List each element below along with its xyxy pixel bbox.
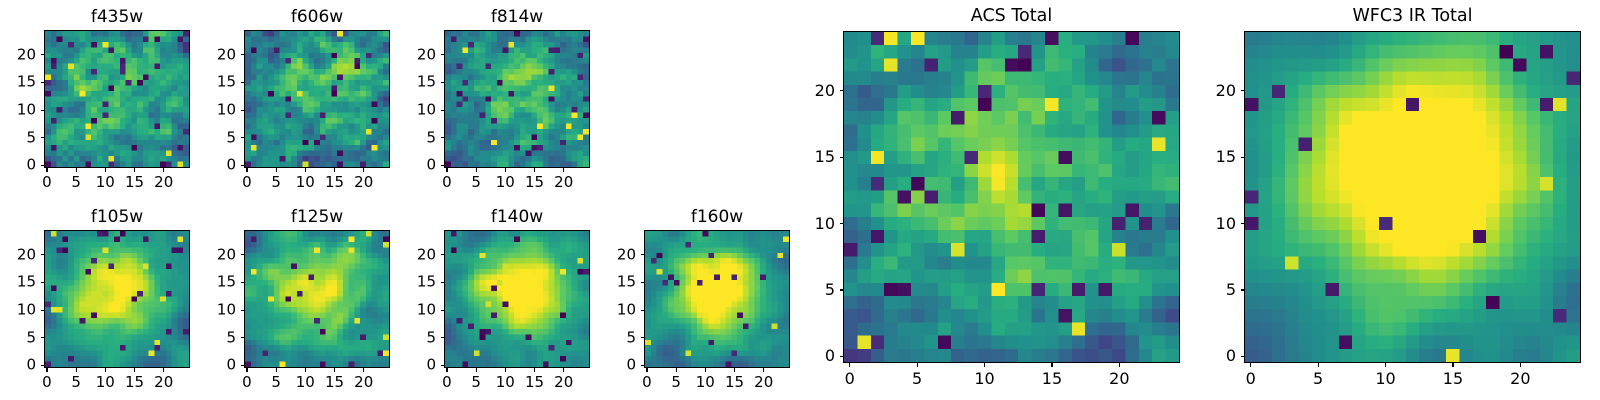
heatmap-image-f160w [645,231,789,367]
y-tick-mark [41,337,45,338]
x-tick-label: 5 [671,375,681,390]
x-tick-label: 5 [71,375,81,390]
y-tick-label: 10 [1198,216,1236,232]
y-tick-label: 10 [602,303,636,318]
y-tick-label: 5 [402,130,436,145]
y-tick-mark [241,110,245,111]
y-tick-mark [241,282,245,283]
x-tick-label: 10 [96,375,115,390]
x-tick-mark [1520,363,1521,367]
y-tick-label: 5 [2,330,36,345]
x-tick-mark [505,168,506,172]
y-tick-mark [840,90,844,91]
heatmap-image-f606w [245,31,389,167]
heatmap-axes-f105w [44,230,190,368]
y-tick-mark [241,365,245,366]
y-tick-mark [41,54,45,55]
x-tick-label: 10 [696,375,715,390]
x-tick-mark [1452,363,1453,367]
x-tick-label: 10 [496,175,515,190]
y-tick-label: 20 [202,47,236,62]
panel-wfc3-ir-total: WFC3 IR Total0510152005101520 [1244,31,1581,363]
x-tick-mark [134,168,135,172]
x-tick-label: 20 [554,375,573,390]
y-tick-mark [641,365,645,366]
y-tick-label: 5 [202,130,236,145]
x-tick-label: 0 [442,175,452,190]
heatmap-axes-f160w [644,230,790,368]
x-tick-label: 20 [354,375,373,390]
x-tick-label: 15 [125,375,144,390]
x-tick-label: 10 [974,371,994,387]
y-tick-label: 15 [402,75,436,90]
x-tick-label: 0 [42,375,52,390]
y-tick-label: 15 [2,275,36,290]
y-tick-mark [241,137,245,138]
panel-acs-total: ACS Total0510152005101520 [843,31,1180,363]
x-tick-label: 15 [325,375,344,390]
x-tick-mark [734,368,735,372]
x-tick-mark [276,168,277,172]
x-tick-mark [563,368,564,372]
y-tick-label: 10 [202,103,236,118]
panel-title-f814w: f814w [444,9,590,26]
y-tick-label: 15 [202,75,236,90]
y-tick-mark [641,337,645,338]
y-tick-label: 20 [797,83,835,99]
x-tick-mark [505,368,506,372]
x-tick-mark [163,368,164,372]
x-tick-mark [305,168,306,172]
x-tick-mark [1318,363,1319,367]
y-tick-label: 20 [602,247,636,262]
y-tick-mark [1241,356,1245,357]
x-tick-mark [246,368,247,372]
x-tick-label: 5 [71,175,81,190]
x-tick-mark [1119,363,1120,367]
y-tick-label: 5 [797,282,835,298]
x-tick-mark [1051,363,1052,367]
y-tick-label: 0 [2,358,36,373]
y-tick-label: 0 [402,158,436,173]
x-tick-label: 20 [354,175,373,190]
x-tick-label: 15 [525,375,544,390]
y-tick-label: 0 [202,158,236,173]
panel-f140w: f140w0510152005101520 [444,230,590,368]
y-tick-label: 15 [797,149,835,165]
x-tick-mark [276,368,277,372]
x-tick-label: 15 [1042,371,1062,387]
x-tick-label: 15 [525,175,544,190]
y-tick-mark [1241,289,1245,290]
y-tick-mark [41,110,45,111]
x-tick-label: 5 [1313,371,1323,387]
y-tick-mark [441,310,445,311]
heatmap-axes-wfc3-ir-total [1244,31,1581,363]
panel-title-f140w: f140w [444,209,590,226]
x-tick-mark [105,168,106,172]
heatmap-image-acs-total [844,32,1179,362]
x-tick-label: 10 [296,375,315,390]
y-tick-label: 10 [402,303,436,318]
y-tick-mark [41,82,45,83]
y-tick-mark [641,282,645,283]
x-tick-label: 15 [725,375,744,390]
y-tick-mark [441,54,445,55]
y-tick-mark [441,82,445,83]
x-tick-label: 0 [845,371,855,387]
heatmap-axes-f435w [44,30,190,168]
y-tick-mark [441,165,445,166]
panel-title-wfc3-ir-total: WFC3 IR Total [1244,8,1581,26]
y-tick-mark [641,254,645,255]
y-tick-label: 20 [1198,83,1236,99]
y-tick-label: 5 [202,330,236,345]
x-tick-mark [676,368,677,372]
y-tick-mark [840,356,844,357]
y-tick-mark [41,165,45,166]
x-tick-label: 20 [1109,371,1129,387]
y-tick-mark [241,337,245,338]
panel-f105w: f105w0510152005101520 [44,230,190,368]
y-tick-mark [441,110,445,111]
heatmap-image-f140w [445,231,589,367]
x-tick-mark [334,368,335,372]
x-tick-mark [363,168,364,172]
y-tick-mark [840,157,844,158]
heatmap-image-wfc3-ir-total [1245,32,1580,362]
y-tick-mark [241,54,245,55]
y-tick-mark [1241,223,1245,224]
x-tick-mark [134,368,135,372]
x-tick-label: 20 [1510,371,1530,387]
x-tick-mark [105,368,106,372]
x-tick-label: 20 [754,375,773,390]
x-tick-mark [534,368,535,372]
x-tick-label: 5 [271,175,281,190]
y-tick-mark [41,310,45,311]
y-tick-label: 5 [2,130,36,145]
heatmap-axes-acs-total [843,31,1180,363]
y-tick-label: 0 [2,158,36,173]
x-tick-label: 5 [912,371,922,387]
y-tick-mark [441,137,445,138]
x-tick-mark [1250,363,1251,367]
x-tick-label: 5 [271,375,281,390]
y-tick-label: 0 [797,348,835,364]
panel-f814w: f814w0510152005101520 [444,30,590,168]
x-tick-label: 0 [242,375,252,390]
y-tick-label: 20 [202,247,236,262]
y-tick-label: 15 [402,275,436,290]
x-tick-label: 15 [125,175,144,190]
x-tick-mark [1385,363,1386,367]
panel-title-f435w: f435w [44,9,190,26]
heatmap-axes-f140w [444,230,590,368]
panel-f435w: f435w0510152005101520 [44,30,190,168]
x-tick-mark [705,368,706,372]
x-tick-label: 0 [442,375,452,390]
y-tick-label: 0 [602,358,636,373]
y-tick-label: 0 [1198,348,1236,364]
y-tick-mark [1241,157,1245,158]
panel-title-f160w: f160w [644,209,790,226]
x-tick-mark [46,168,47,172]
x-tick-label: 0 [42,175,52,190]
x-tick-label: 10 [296,175,315,190]
x-tick-mark [334,168,335,172]
panel-title-f606w: f606w [244,9,390,26]
heatmap-axes-f814w [444,30,590,168]
y-tick-label: 0 [202,358,236,373]
panel-title-f125w: f125w [244,209,390,226]
x-tick-mark [246,168,247,172]
y-tick-mark [441,282,445,283]
y-tick-mark [840,289,844,290]
y-tick-label: 15 [2,75,36,90]
y-tick-mark [241,254,245,255]
y-tick-label: 5 [602,330,636,345]
y-tick-label: 20 [2,247,36,262]
heatmap-image-f105w [45,231,189,367]
y-tick-mark [441,365,445,366]
y-tick-label: 15 [1198,149,1236,165]
x-tick-label: 10 [1375,371,1395,387]
y-tick-label: 20 [402,47,436,62]
y-tick-mark [241,165,245,166]
y-tick-label: 10 [2,303,36,318]
y-tick-label: 20 [402,247,436,262]
x-tick-label: 20 [554,175,573,190]
x-tick-mark [476,368,477,372]
x-tick-label: 20 [154,175,173,190]
x-tick-label: 5 [471,375,481,390]
y-tick-mark [41,365,45,366]
x-tick-mark [849,363,850,367]
y-tick-mark [441,337,445,338]
x-tick-mark [76,168,77,172]
y-tick-mark [1241,90,1245,91]
y-tick-label: 15 [202,275,236,290]
x-tick-mark [563,168,564,172]
panel-f160w: f160w0510152005101520 [644,230,790,368]
figure-canvas: f435w0510152005101520f606w05101520051015… [0,0,1600,400]
y-tick-label: 5 [1198,282,1236,298]
x-tick-mark [763,368,764,372]
x-tick-mark [476,168,477,172]
y-tick-mark [41,254,45,255]
heatmap-axes-f606w [244,30,390,168]
y-tick-label: 20 [2,47,36,62]
panel-f606w: f606w0510152005101520 [244,30,390,168]
y-tick-label: 10 [797,216,835,232]
y-tick-mark [641,310,645,311]
x-tick-mark [363,368,364,372]
heatmap-image-f435w [45,31,189,167]
x-tick-mark [446,168,447,172]
x-tick-mark [163,168,164,172]
x-tick-mark [76,368,77,372]
x-tick-label: 0 [1246,371,1256,387]
x-tick-label: 20 [154,375,173,390]
x-tick-label: 0 [642,375,652,390]
y-tick-label: 10 [402,103,436,118]
y-tick-mark [441,254,445,255]
heatmap-image-f814w [445,31,589,167]
x-tick-label: 10 [96,175,115,190]
panel-f125w: f125w0510152005101520 [244,230,390,368]
y-tick-mark [241,310,245,311]
x-tick-mark [984,363,985,367]
y-tick-mark [41,137,45,138]
x-tick-mark [305,368,306,372]
y-tick-label: 15 [602,275,636,290]
y-tick-mark [41,282,45,283]
x-tick-mark [646,368,647,372]
y-tick-mark [241,82,245,83]
x-tick-label: 0 [242,175,252,190]
y-tick-mark [840,223,844,224]
x-tick-label: 15 [325,175,344,190]
x-tick-label: 10 [496,375,515,390]
y-tick-label: 10 [202,303,236,318]
heatmap-image-f125w [245,231,389,367]
y-tick-label: 5 [402,330,436,345]
x-tick-mark [46,368,47,372]
x-tick-label: 5 [471,175,481,190]
x-tick-mark [446,368,447,372]
y-tick-label: 10 [2,103,36,118]
x-tick-mark [917,363,918,367]
x-tick-label: 15 [1443,371,1463,387]
panel-title-acs-total: ACS Total [843,8,1180,26]
y-tick-label: 0 [402,358,436,373]
x-tick-mark [534,168,535,172]
panel-title-f105w: f105w [44,209,190,226]
heatmap-axes-f125w [244,230,390,368]
